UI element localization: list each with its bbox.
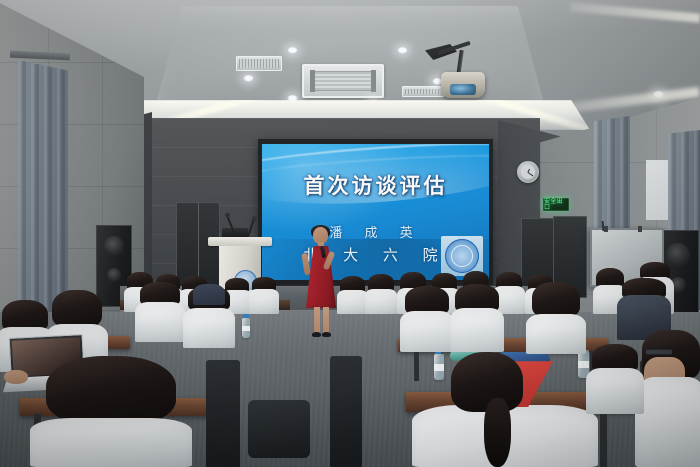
white-lab-coat xyxy=(526,314,586,354)
whiteboard-clip xyxy=(638,226,642,232)
white-lab-coat xyxy=(249,289,279,314)
clock-face xyxy=(521,165,535,179)
audience-member-front-row-left xyxy=(46,356,176,467)
white-lab-coat xyxy=(30,418,191,467)
eyeglasses xyxy=(646,349,672,355)
typing-hand xyxy=(4,370,28,384)
seal-emblem xyxy=(445,239,479,273)
white-lab-coat xyxy=(450,308,505,352)
person-hair xyxy=(451,352,523,412)
audience-member-mid-row-right xyxy=(532,282,580,354)
white-lab-coat xyxy=(586,368,643,414)
bottle-label xyxy=(242,326,250,331)
audience-member-mid-row-center xyxy=(455,284,499,352)
window-curtain xyxy=(18,60,68,322)
presenter-in-red-dress xyxy=(300,227,342,340)
audience-member-back-row-center xyxy=(252,277,276,314)
speaker-driver xyxy=(104,236,124,256)
presenter-leg xyxy=(323,307,329,333)
slot-air-vent xyxy=(402,86,444,97)
clock-minute-hand xyxy=(528,172,534,176)
audience-member-front-row-red-collar xyxy=(430,352,580,467)
audience-member-mid-row-left xyxy=(140,282,180,342)
white-lab-coat xyxy=(635,377,700,467)
person-hair xyxy=(46,356,176,425)
audience-member-mid-row-center xyxy=(405,286,449,352)
speaker-driver xyxy=(107,268,121,282)
vent-louvers xyxy=(312,71,374,91)
projection-screen: 首次访谈评估 潘 成 英 北 大 六 院 xyxy=(262,144,489,280)
vent-bar xyxy=(310,70,315,92)
desk-leg xyxy=(414,351,419,381)
water-bottle xyxy=(242,318,250,338)
wall-clock xyxy=(517,161,539,183)
white-lab-coat xyxy=(337,290,368,314)
emergency-exit-sign: 安全出口 xyxy=(543,198,569,211)
white-lab-coat xyxy=(183,308,235,348)
chair-back xyxy=(330,356,362,467)
recessed-downlight xyxy=(243,75,254,82)
presenter-leg xyxy=(314,307,320,333)
audience-member-back-row-right xyxy=(496,272,522,314)
slide-title: 首次访谈评估 xyxy=(262,170,489,200)
navy-hooded-collar xyxy=(193,284,225,305)
black-bag xyxy=(248,400,310,458)
white-lab-coat xyxy=(135,302,185,342)
projector-lens xyxy=(450,84,476,95)
projection-screen-frame: 首次访谈评估 潘 成 英 北 大 六 院 xyxy=(258,139,493,285)
exit-sign-label: 安全出口 xyxy=(544,199,568,211)
chair-back xyxy=(206,360,240,467)
presenter-shoe xyxy=(312,332,321,337)
hospital-seal-logo xyxy=(441,236,483,276)
recessed-downlight xyxy=(287,47,298,54)
ceiling-projector xyxy=(441,72,485,98)
person-hair xyxy=(532,282,580,318)
audience-member-mid-row-left xyxy=(188,286,230,348)
presenter-shoe xyxy=(322,332,331,337)
white-lab-coat xyxy=(400,311,455,352)
vent-bar xyxy=(371,70,376,92)
whiteboard-clip xyxy=(604,226,608,232)
bottle-cap xyxy=(243,314,249,318)
white-lab-coat xyxy=(365,289,397,314)
air-conditioner-vent xyxy=(302,64,384,98)
podium-top-surface xyxy=(208,237,272,246)
recessed-downlight xyxy=(397,47,408,54)
lecture-hall-photo: 安全出口 首次访谈评估 潘 成 英 北 大 六 院 xyxy=(0,0,700,467)
audience-member-front-row-right xyxy=(592,344,638,414)
audience-member-back-row-right xyxy=(340,276,365,314)
slot-air-vent xyxy=(236,56,282,71)
ponytail xyxy=(484,398,511,467)
desk-leg xyxy=(600,410,607,467)
audience-member-back-row-right xyxy=(368,274,394,314)
person-hair xyxy=(52,290,102,328)
presenter-arm-left xyxy=(301,253,310,276)
